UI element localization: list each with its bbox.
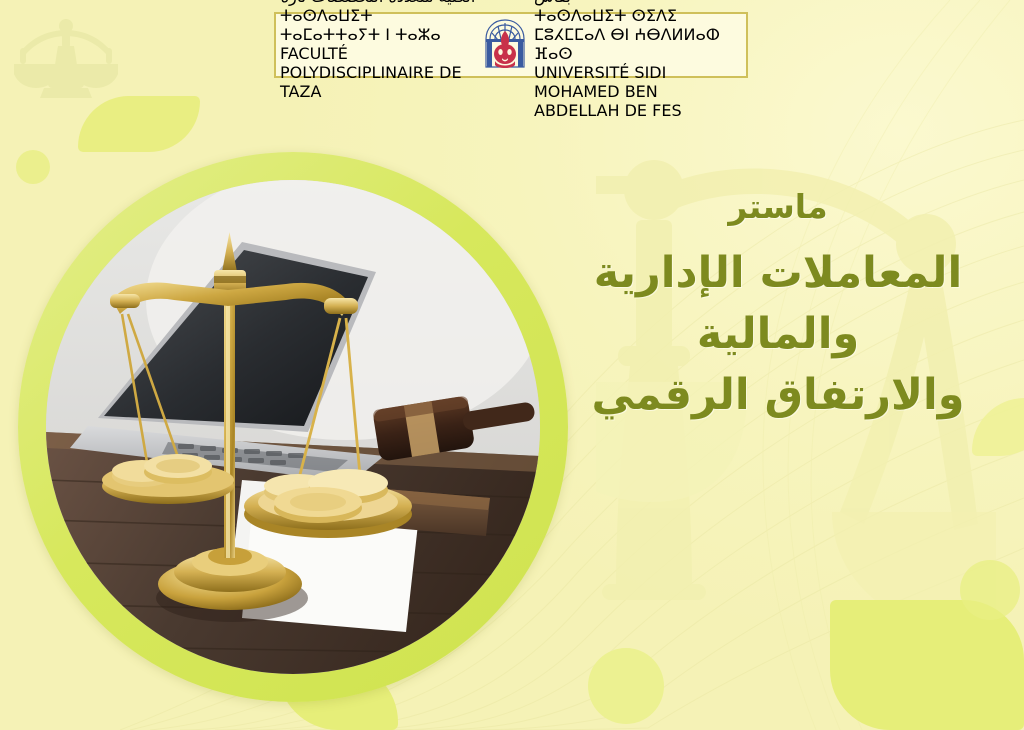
program-title-line-1: المعاملات الإدارية [556, 243, 1000, 304]
poster-canvas: الكلية متعددة التخصصات تازة ⵜⴰⵙⴷⴰⵡⵉⵜ ⵜⴰⵎ… [0, 0, 1024, 730]
faculty-logo-text: الكلية متعددة التخصصات تازة ⵜⴰⵙⴷⴰⵡⵉⵜ ⵜⴰⵎ… [280, 0, 476, 102]
degree-kicker: ماستر [556, 186, 1000, 227]
decorative-leaf-top-left [78, 96, 200, 152]
program-title-line-2: والمالية [556, 304, 1000, 365]
faculty-name-french: FACULTÉ POLYDISCIPLINAIRE DE TAZA [280, 45, 476, 102]
decorative-dot-upper-left [16, 150, 50, 184]
photo-ring [18, 152, 568, 702]
poster-title-block: ماستر المعاملات الإدارية والمالية والارت… [556, 186, 1000, 426]
university-name-french: UNIVERSITÉ SIDI MOHAMED BEN ABDELLAH DE … [534, 64, 742, 121]
institution-logo-band: الكلية متعددة التخصصات تازة ⵜⴰⵙⴷⴰⵡⵉⵜ ⵜⴰⵎ… [274, 12, 748, 78]
university-crest-icon [482, 17, 528, 73]
university-name-tifinagh: ⵜⴰⵙⴷⴰⵡⵉⵜ ⵙⵉⴷⵉ ⵎⵓⵃⵎⵎⴰⴷ ⴱⵏ ⵄⴱⴷⵍⵍⴰⵀ ⴼⴰⵙ [534, 7, 742, 64]
program-title-line-3: والارتفاق الرقمي [556, 365, 1000, 426]
decorative-dot-bottom [588, 648, 664, 724]
university-logo-text: جامعة سيدي محمد بن عبد الله بفاس ⵜⴰⵙⴷⴰⵡⵉ… [534, 0, 742, 121]
decorative-dot-right [960, 560, 1020, 620]
scales-of-justice-photo [46, 180, 540, 674]
faculty-name-tifinagh: ⵜⴰⵙⴷⴰⵡⵉⵜ ⵜⴰⵎⴰⵜⵜⴰⵢⵜ ⵏ ⵜⴰⵣⴰ [280, 7, 476, 45]
